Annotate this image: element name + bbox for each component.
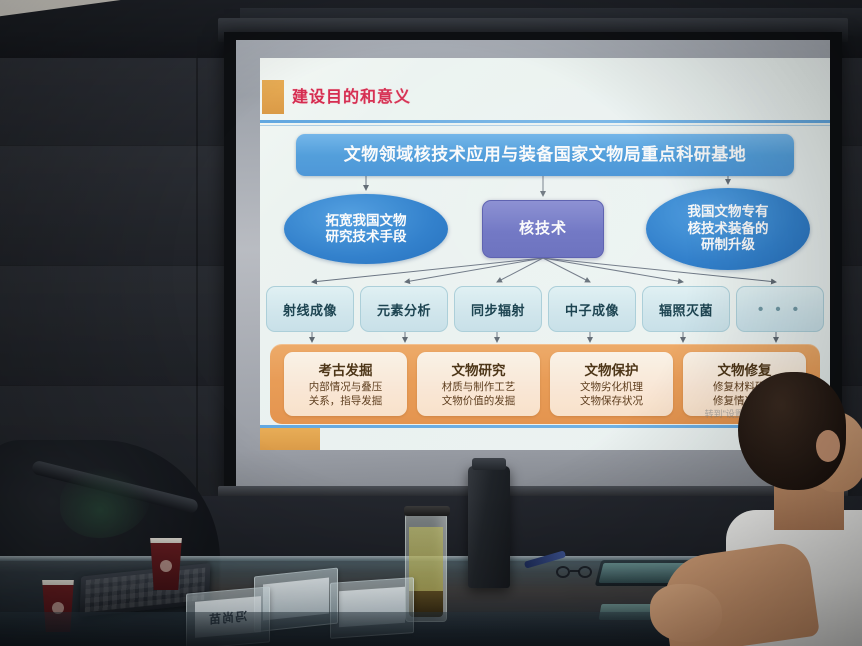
title-accent-bar — [262, 80, 284, 114]
technique-node-4: 中子成像 — [548, 286, 636, 332]
title-divider — [260, 120, 830, 123]
technique-node-2: 元素分析 — [360, 286, 448, 332]
technique-node-1: 射线成像 — [266, 286, 354, 332]
technique-row: 射线成像 元素分析 同步辐射 中子成像 辐照灭菌 • • • — [266, 286, 824, 332]
application-node-1: 考古发掘 内部情况与叠压 关系，指导发掘 — [284, 352, 407, 416]
application-2-desc-2: 文物价值的发掘 — [442, 395, 516, 409]
application-3-desc-2: 文物保存状况 — [580, 395, 643, 409]
application-2-title: 文物研究 — [452, 359, 506, 379]
goal-left-line-2: 研究技术手段 — [326, 229, 407, 245]
application-3-title: 文物保护 — [585, 359, 639, 379]
title-divider-thin — [260, 125, 830, 126]
application-node-2: 文物研究 材质与制作工艺 文物价值的发掘 — [417, 352, 540, 416]
thermos-cap — [472, 458, 506, 470]
seated-attendee — [712, 372, 862, 646]
tea-liquid — [409, 527, 443, 601]
application-3-desc-1: 文物劣化机理 — [580, 381, 643, 395]
application-1-title: 考古发掘 — [319, 359, 373, 379]
technique-node-more: • • • — [736, 286, 824, 332]
slide-bottom-accent — [260, 428, 320, 450]
goal-right-line-2: 核技术装备的 — [688, 221, 769, 237]
goal-left-line-1: 拓宽我国文物 — [326, 213, 407, 229]
application-1-desc-1: 内部情况与叠压 — [309, 381, 383, 395]
goal-node-right: 我国文物专有 核技术装备的 研制升级 — [646, 188, 810, 270]
goal-node-left: 拓宽我国文物 研究技术手段 — [284, 194, 448, 264]
slide-title: 建设目的和意义 — [292, 83, 411, 107]
tumbler-cap — [404, 506, 450, 516]
thermos-flask — [468, 466, 510, 588]
eyeglasses — [556, 566, 600, 578]
application-node-3: 文物保护 文物劣化机理 文物保存状况 — [550, 352, 673, 416]
paper-cup — [148, 538, 184, 590]
application-1-desc-2: 关系，指导发掘 — [309, 395, 383, 409]
conference-room-scene: 建设目的和意义 — [0, 0, 862, 646]
attendee-hand — [650, 584, 722, 642]
technique-node-3: 同步辐射 — [454, 286, 542, 332]
attendee-ear — [816, 430, 840, 462]
application-2-desc-1: 材质与制作工艺 — [442, 381, 516, 395]
cup-logo — [160, 560, 172, 572]
wall-seam — [196, 30, 198, 560]
root-node: 文物领域核技术应用与装备国家文物局重点科研基地 — [296, 134, 794, 176]
core-node: 核技术 — [482, 200, 604, 258]
goal-right-line-1: 我国文物专有 — [688, 204, 769, 220]
lens-right — [578, 566, 592, 578]
goal-right-line-3: 研制升级 — [688, 237, 769, 253]
lens-left — [556, 566, 570, 578]
technique-node-5: 辐照灭菌 — [642, 286, 730, 332]
